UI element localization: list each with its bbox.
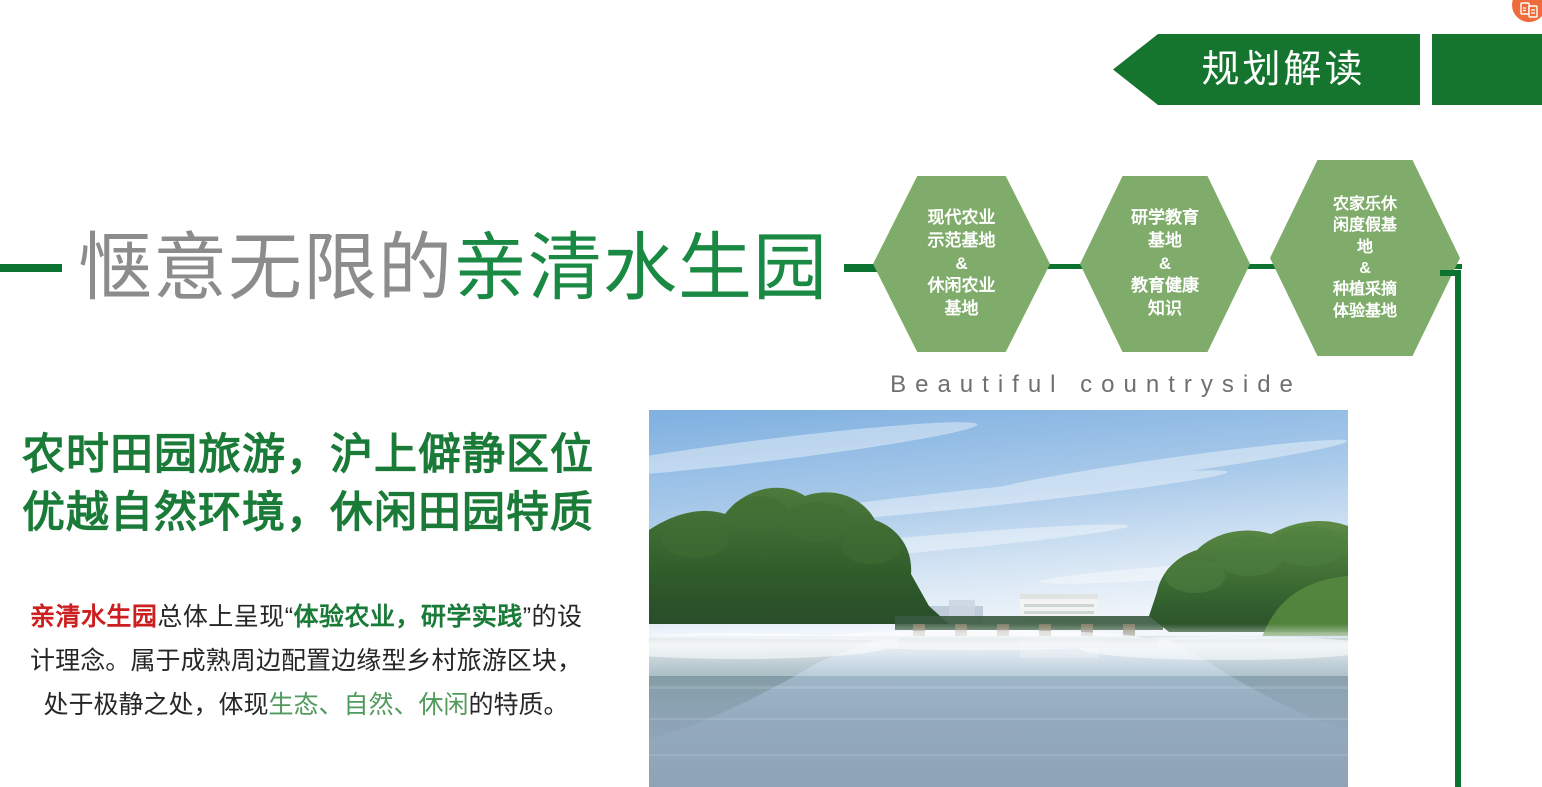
paragraph-segment-6: 的特质。 <box>469 691 569 719</box>
hexagon-item-2[interactable]: 研学教育 基地 & 教育健康 知识 <box>1080 176 1250 352</box>
hexagon-item-1[interactable]: 现代农业 示范基地 & 休闲农业 基地 <box>873 176 1050 352</box>
headline-line-2: 优越自然环境，休闲田园特质 <box>22 484 622 542</box>
paragraph-segment-2: 总体上呈现“ <box>157 603 293 631</box>
body-paragraph: 亲清水生园总体上呈现“体验农业，研学实践”的设计理念。属于成熟周边配置边缘型乡村… <box>30 596 582 727</box>
page-title: 惬意无限的亲清水生园 <box>0 222 880 314</box>
subtitle-english: Beautiful countryside <box>870 371 1322 399</box>
hexagon-label: 现代农业 示范基地 & 休闲农业 基地 <box>928 207 996 320</box>
paragraph-emphasis-name: 亲清水生园 <box>30 603 157 631</box>
title-prefix: 惬意无限的 <box>78 226 453 309</box>
headline-line-1: 农时田园旅游，沪上僻静区位 <box>22 426 622 484</box>
presentation-slide: 规划解读 惬意无限的亲清水生园 现代农业 示范基地 & 休闲农业 基地 研学教育… <box>0 0 1542 787</box>
headline: 农时田园旅游，沪上僻静区位 优越自然环境，休闲田园特质 <box>22 426 622 542</box>
section-banner-block <box>1432 34 1542 105</box>
right-vertical-rule <box>1455 270 1461 787</box>
section-banner: 规划解读 <box>1113 34 1420 105</box>
paragraph-emphasis-traits: 生态、自然、休闲 <box>268 691 468 719</box>
title-text: 惬意无限的亲清水生园 <box>62 231 844 305</box>
hexagon-label: 研学教育 基地 & 教育健康 知识 <box>1131 207 1199 320</box>
paragraph-emphasis-concept: 体验农业，研学实践 <box>293 603 523 631</box>
hexagon-label: 农家乐休 闲度假基 地 & 种植采摘 体验基地 <box>1333 194 1397 322</box>
document-translate-icon[interactable] <box>1512 0 1542 22</box>
title-highlight: 亲清水生园 <box>453 226 828 309</box>
hexagon-item-3[interactable]: 农家乐休 闲度假基 地 & 种植采摘 体验基地 <box>1270 160 1460 356</box>
lake-countryside-photo <box>649 410 1348 787</box>
title-dash-left <box>0 264 62 272</box>
section-banner-title: 规划解读 <box>1167 51 1365 89</box>
